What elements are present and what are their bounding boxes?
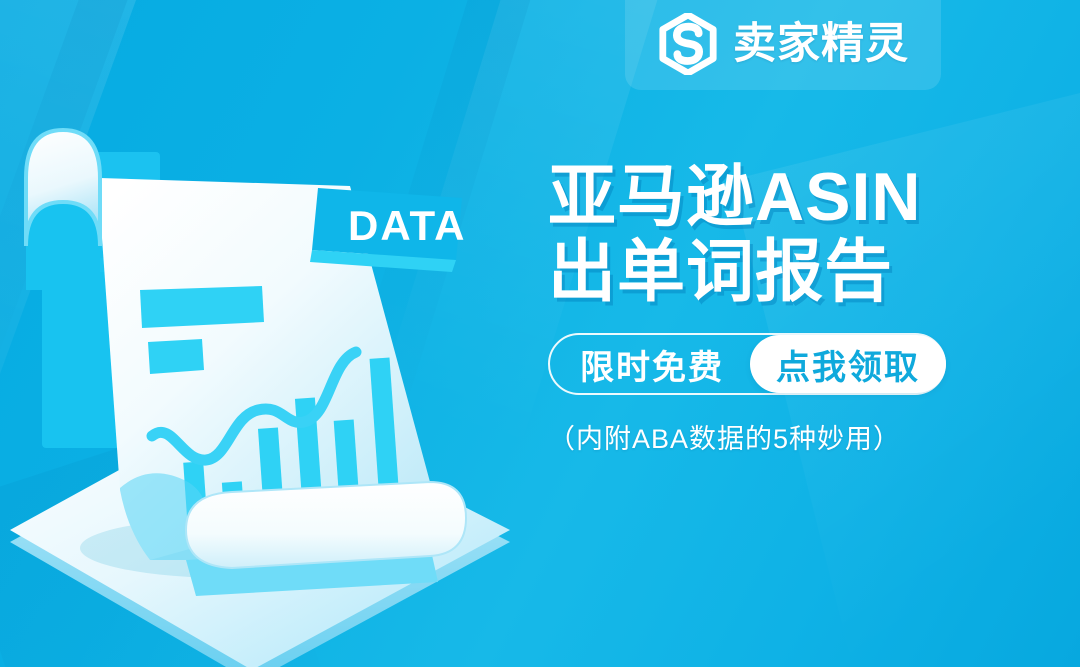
promo-banner: 卖家精灵	[0, 0, 1080, 667]
promo-content: 亚马逊ASIN 出单词报告 限时免费 点我领取 （内附ABA数据的5种妙用）	[548, 162, 1048, 456]
cta-group[interactable]: 限时免费 点我领取	[548, 333, 946, 395]
data-tag-label: DATA	[348, 202, 466, 249]
cta-free-label: 限时免费	[580, 340, 750, 389]
brand-logo-badge[interactable]: 卖家精灵	[625, 0, 941, 90]
data-tag: DATA	[310, 188, 466, 272]
data-report-illustration: DATA	[0, 90, 560, 667]
paper-roll-top	[26, 130, 100, 290]
brand-name: 卖家精灵	[733, 23, 909, 66]
promo-subtitle: （内附ABA数据的5种妙用）	[548, 417, 1048, 456]
claim-button[interactable]: 点我领取	[750, 335, 946, 393]
headline-line-2: 出单词报告	[548, 237, 1048, 308]
hexagon-s-logo-icon	[657, 13, 719, 75]
headline-line-1: 亚马逊ASIN	[548, 162, 1048, 233]
